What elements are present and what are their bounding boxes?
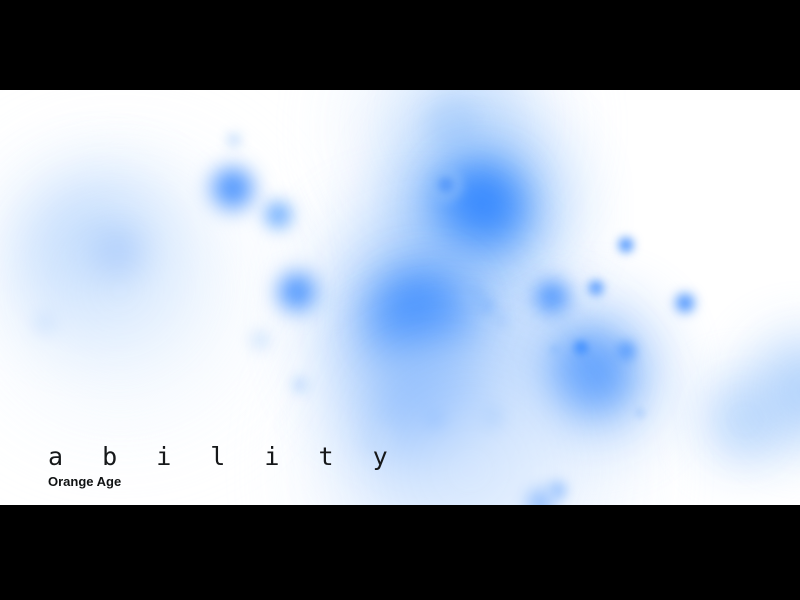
blob-sharp-b <box>265 202 291 228</box>
video-frame: a b i l i t y Orange Age <box>0 0 800 600</box>
dot-mid-right-b <box>480 300 494 314</box>
blob-right-sharp <box>535 281 569 315</box>
dot-near-text-2 <box>293 378 307 392</box>
blob-sharp-c <box>278 273 316 311</box>
blob-sharp-a <box>211 168 253 210</box>
dot-rc-a <box>574 341 588 355</box>
dot-rc-b <box>617 342 635 360</box>
dot-near-text <box>252 332 268 348</box>
dot-sharp-right-3 <box>676 294 694 312</box>
dot-sharp-right-1 <box>619 238 633 252</box>
letterbox-bar-top <box>0 0 800 90</box>
blob-left-wash <box>10 180 230 400</box>
dot-mid-right-c <box>495 314 507 326</box>
subtitle: Orange Age <box>48 474 400 490</box>
dot-mid-right-a <box>465 286 483 304</box>
page-title: a b i l i t y <box>48 442 400 472</box>
artwork-canvas: a b i l i t y Orange Age <box>0 90 800 505</box>
dot-sharp-right-2 <box>589 281 603 295</box>
ring-upper-core <box>438 177 454 193</box>
title-overlay: a b i l i t y Orange Age <box>48 442 400 490</box>
dot-rc-c <box>551 346 559 354</box>
dot-upper-left <box>228 134 240 146</box>
letterbox-bar-bottom <box>0 505 800 600</box>
